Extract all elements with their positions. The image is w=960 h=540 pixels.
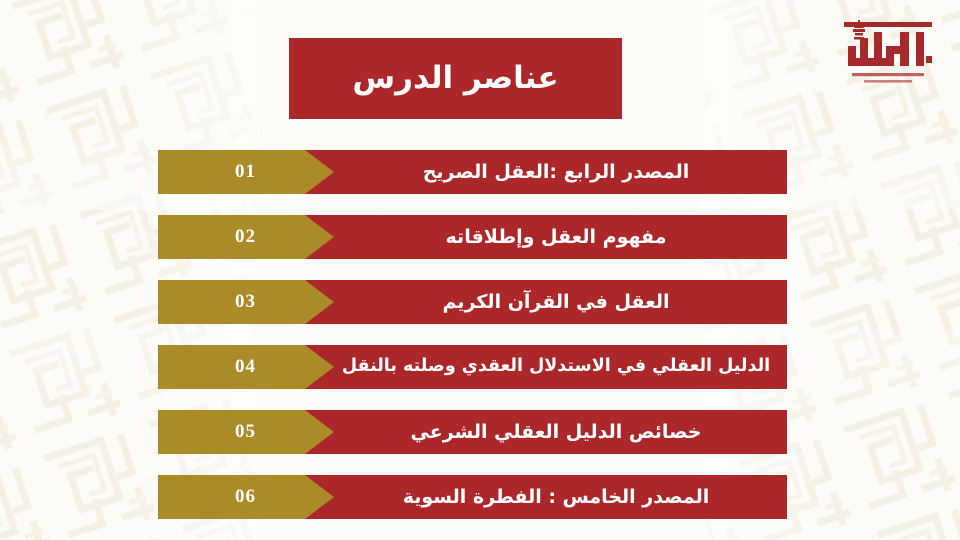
list-item[interactable]: 06 المصدر الخامس : الفطرة السوية — [158, 475, 787, 519]
item-label-banner: مفهوم العقل وإطلاقاته — [305, 215, 787, 259]
brand-logo — [830, 16, 946, 92]
slide-canvas: عناصر الدرس 01 المصدر الرابع :العقل الصر… — [0, 0, 960, 540]
item-number: 05 — [158, 410, 333, 454]
item-label-banner: المصدر الخامس : الفطرة السوية — [305, 475, 787, 519]
item-number: 01 — [158, 150, 333, 194]
item-label-banner: الدليل العقلي في الاستدلال العقدي وصلته … — [305, 345, 787, 389]
item-number: 04 — [158, 345, 333, 389]
page-title-banner: عناصر الدرس — [289, 38, 622, 119]
list-item[interactable]: 01 المصدر الرابع :العقل الصريح — [158, 150, 787, 194]
item-label-banner: المصدر الرابع :العقل الصريح — [305, 150, 787, 194]
page-title: عناصر الدرس — [352, 63, 558, 94]
list-item[interactable]: 02 مفهوم العقل وإطلاقاته — [158, 215, 787, 259]
item-label: العقل في القرآن الكريم — [409, 293, 684, 312]
item-label-banner: خصائص الدليل العقلي الشرعي — [305, 410, 787, 454]
item-number: 03 — [158, 280, 333, 324]
item-label: المصدر الرابع :العقل الصريح — [389, 163, 704, 182]
lesson-items-list: 01 المصدر الرابع :العقل الصريح 02 مفهوم … — [158, 150, 787, 519]
item-label: خصائص الدليل العقلي الشرعي — [377, 423, 716, 442]
item-label-banner: العقل في القرآن الكريم — [305, 280, 787, 324]
item-label: مفهوم العقل وإطلاقاته — [412, 228, 681, 247]
list-item[interactable]: 05 خصائص الدليل العقلي الشرعي — [158, 410, 787, 454]
item-number: 06 — [158, 475, 333, 519]
item-label: المصدر الخامس : الفطرة السوية — [369, 488, 724, 507]
item-label: الدليل العقلي في الاستدلال العقدي وصلته … — [308, 358, 784, 376]
item-number: 02 — [158, 215, 333, 259]
list-item[interactable]: 04 الدليل العقلي في الاستدلال العقدي وصل… — [158, 345, 787, 389]
list-item[interactable]: 03 العقل في القرآن الكريم — [158, 280, 787, 324]
